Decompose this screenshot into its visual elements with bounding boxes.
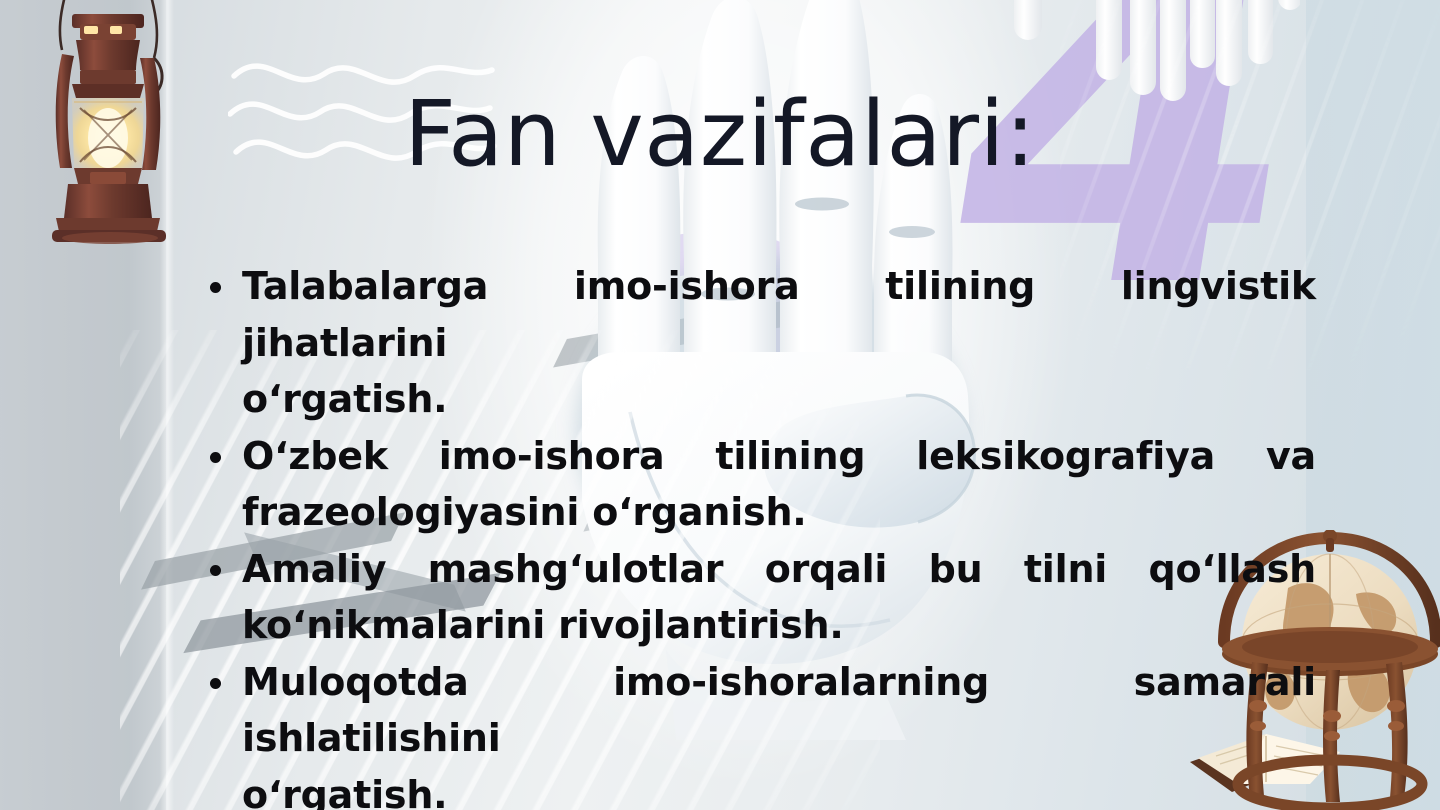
list-item: Talabalarga imo-ishora tilining lingvist… xyxy=(196,258,1316,428)
page-title: Fan vazifalari: xyxy=(0,88,1440,183)
list-item-line: Muloqotda imo-ishoralarning samarali ish… xyxy=(242,654,1316,767)
list-item: Amaliy mashg‘ulotlar orqali bu tilni qo‘… xyxy=(196,541,1316,654)
list-item-line: o‘rgatish. xyxy=(242,767,1316,810)
presentation-slide: 2 4 xyxy=(0,0,1440,810)
list-item: O‘zbek imo-ishora tilining leksikografiy… xyxy=(196,428,1316,541)
list-item-line: ko‘nikmalarini rivojlantirish. xyxy=(242,597,1316,654)
list-item-line: o‘rgatish. xyxy=(242,371,1316,428)
list-item-line: Talabalarga imo-ishora tilining lingvist… xyxy=(242,258,1316,371)
list-item-line: O‘zbek imo-ishora tilining leksikografiy… xyxy=(242,428,1316,485)
list-item: Muloqotda imo-ishoralarning samarali ish… xyxy=(196,654,1316,810)
list-item-line: frazeologiyasini o‘rganish. xyxy=(242,484,1316,541)
list-item-line: Amaliy mashg‘ulotlar orqali bu tilni qo‘… xyxy=(242,541,1316,598)
slide-content: Fan vazifalari: Talabalarga imo-ishora t… xyxy=(0,0,1440,810)
bullet-list: Talabalarga imo-ishora tilining lingvist… xyxy=(196,258,1316,810)
